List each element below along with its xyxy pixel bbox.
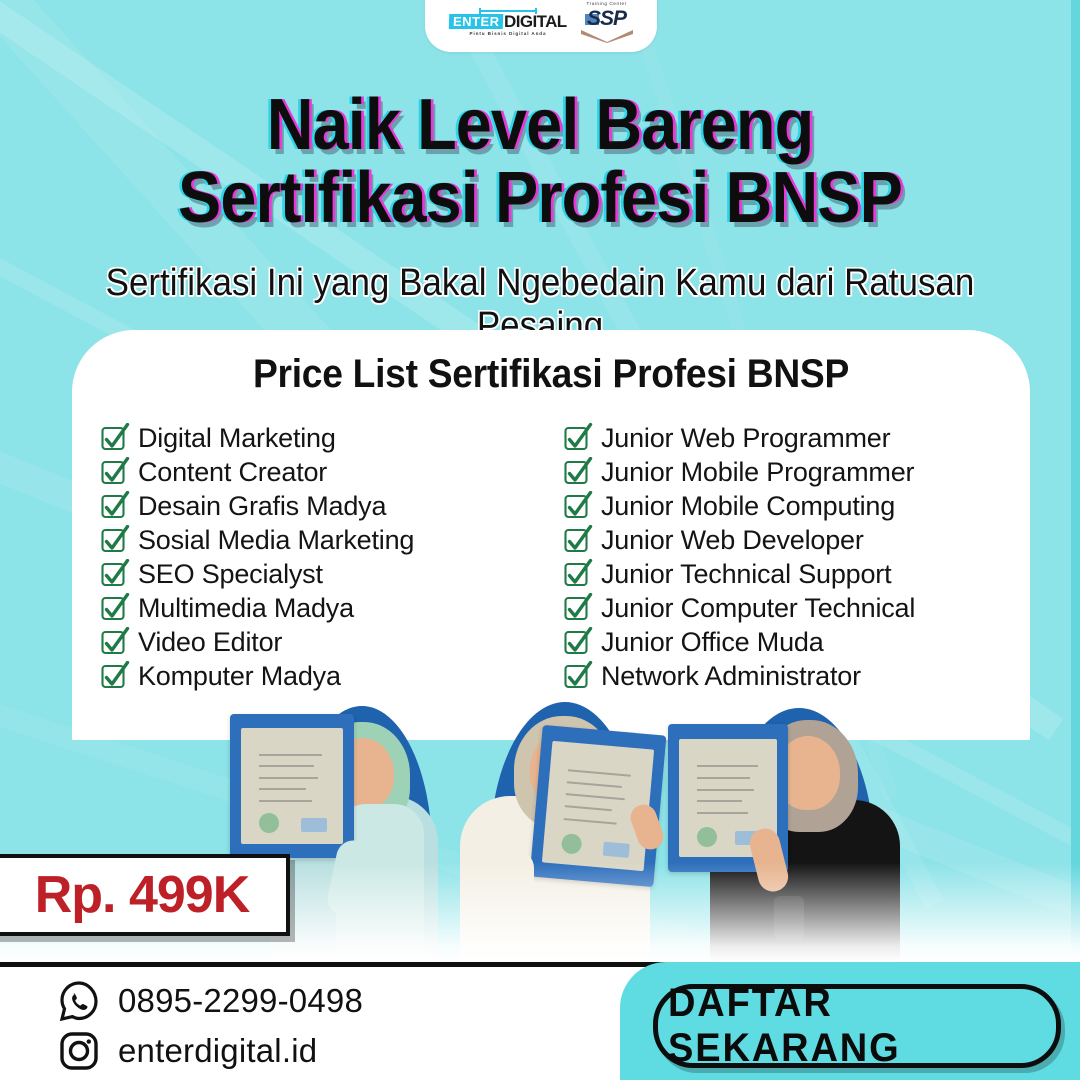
- list-item: Junior Web Developer: [563, 523, 1004, 557]
- check-box-icon: [563, 423, 593, 453]
- list-item: Network Administrator: [563, 659, 1004, 693]
- list-item-label: Multimedia Madya: [138, 593, 354, 624]
- price-badge: Rp. 499K: [0, 854, 290, 936]
- person-right: [654, 700, 904, 962]
- price-list-card: Price List Sertifikasi Profesi BNSP Digi…: [72, 330, 1030, 740]
- list-item-label: SEO Specialyst: [138, 559, 323, 590]
- list-item-label: Digital Marketing: [138, 423, 336, 454]
- check-box-icon: [563, 559, 593, 589]
- logo-bar: ENTER DIGITAL Pintu Bisnis Digital Anda …: [425, 0, 657, 52]
- list-item-label: Junior Computer Technical: [601, 593, 915, 624]
- list-item-label: Network Administrator: [601, 661, 861, 692]
- check-box-icon: [100, 559, 130, 589]
- check-box-icon: [100, 457, 130, 487]
- check-box-icon: [563, 627, 593, 657]
- list-item: Sosial Media Marketing: [100, 523, 541, 557]
- list-item: Junior Web Programmer: [563, 421, 1004, 455]
- ssp-chevron-icon: [581, 30, 633, 43]
- list-item: Komputer Madya: [100, 659, 541, 693]
- check-box-icon: [100, 457, 130, 487]
- check-box-icon: [100, 661, 130, 691]
- check-box-icon: [100, 491, 130, 521]
- whatsapp-number: 0895-2299-0498: [118, 982, 363, 1020]
- price-list-column-right: Junior Web ProgrammerJunior Mobile Progr…: [563, 421, 1004, 693]
- list-item: Junior Technical Support: [563, 557, 1004, 591]
- page-title: Naik Level Bareng Sertifikasi Profesi BN…: [54, 92, 1026, 232]
- check-box-icon: [563, 525, 593, 555]
- headline-line-2: Sertifikasi Profesi BNSP: [54, 165, 1026, 232]
- list-item-label: Junior Web Programmer: [601, 423, 890, 454]
- list-item-label: Junior Technical Support: [601, 559, 891, 590]
- check-box-icon: [563, 423, 593, 453]
- list-item: Video Editor: [100, 625, 541, 659]
- list-item: Junior Office Muda: [563, 625, 1004, 659]
- list-item-label: Junior Office Muda: [601, 627, 824, 658]
- logo-digital-text: DIGITAL: [504, 13, 567, 30]
- list-item-label: Junior Web Developer: [601, 525, 864, 556]
- instagram-row[interactable]: enterdigital.id: [58, 1030, 363, 1072]
- check-box-icon: [563, 661, 593, 691]
- check-box-icon: [100, 627, 130, 657]
- cta-block: DAFTAR SEKARANG: [620, 962, 1080, 1080]
- enter-digital-logo: ENTER DIGITAL Pintu Bisnis Digital Anda: [449, 10, 566, 37]
- whatsapp-row[interactable]: 0895-2299-0498: [58, 980, 363, 1022]
- list-item: Digital Marketing: [100, 421, 541, 455]
- list-item: Multimedia Madya: [100, 591, 541, 625]
- contact-block: 0895-2299-0498 enterdigital.id: [58, 980, 363, 1080]
- list-item: Junior Mobile Computing: [563, 489, 1004, 523]
- check-box-icon: [100, 559, 130, 589]
- list-item: SEO Specialyst: [100, 557, 541, 591]
- certificate-left: [230, 714, 354, 858]
- check-box-icon: [100, 593, 130, 623]
- register-button[interactable]: DAFTAR SEKARANG: [653, 984, 1061, 1068]
- list-item: Content Creator: [100, 455, 541, 489]
- check-box-icon: [563, 627, 593, 657]
- logo-enter-text: ENTER: [449, 14, 503, 29]
- instagram-icon[interactable]: [58, 1030, 100, 1072]
- whatsapp-icon[interactable]: [58, 980, 100, 1022]
- check-box-icon: [563, 525, 593, 555]
- person-center: [438, 700, 688, 962]
- list-item: Desain Grafis Madya: [100, 489, 541, 523]
- check-box-icon: [563, 593, 593, 623]
- check-box-icon: [563, 593, 593, 623]
- check-box-icon: [563, 491, 593, 521]
- check-box-icon: [100, 661, 130, 691]
- check-box-icon: [563, 457, 593, 487]
- logo-tagline: Pintu Bisnis Digital Anda: [470, 32, 547, 37]
- check-box-icon: [100, 525, 130, 555]
- check-box-icon: [100, 423, 130, 453]
- check-box-icon: [563, 559, 593, 589]
- list-item: Junior Mobile Programmer: [563, 455, 1004, 489]
- price-badge-label: Rp. 499K: [35, 865, 250, 925]
- list-item-label: Junior Mobile Computing: [601, 491, 895, 522]
- list-item-label: Desain Grafis Madya: [138, 491, 386, 522]
- register-button-label: DAFTAR SEKARANG: [668, 981, 1046, 1071]
- logo-bracket-icon: [479, 10, 537, 12]
- poster-canvas: ENTER DIGITAL Pintu Bisnis Digital Anda …: [0, 0, 1080, 1080]
- check-box-icon: [563, 491, 593, 521]
- list-item-label: Junior Mobile Programmer: [601, 457, 914, 488]
- ssp-logo: Training Center SSP: [581, 3, 633, 44]
- price-list-title: Price List Sertifikasi Profesi BNSP: [106, 352, 997, 397]
- headline-line-1: Naik Level Bareng: [54, 92, 1026, 159]
- check-box-icon: [100, 491, 130, 521]
- check-box-icon: [100, 525, 130, 555]
- check-box-icon: [100, 627, 130, 657]
- price-list-columns: Digital MarketingContent CreatorDesain G…: [72, 421, 1030, 693]
- check-box-icon: [563, 661, 593, 691]
- price-list-column-left: Digital MarketingContent CreatorDesain G…: [100, 421, 541, 693]
- check-box-icon: [100, 423, 130, 453]
- list-item-label: Video Editor: [138, 627, 282, 658]
- instagram-handle: enterdigital.id: [118, 1032, 317, 1070]
- list-item: Junior Computer Technical: [563, 591, 1004, 625]
- list-item-label: Sosial Media Marketing: [138, 525, 414, 556]
- check-box-icon: [563, 457, 593, 487]
- check-box-icon: [100, 593, 130, 623]
- ssp-wordmark: SSP: [587, 8, 626, 29]
- list-item-label: Komputer Madya: [138, 661, 341, 692]
- list-item-label: Content Creator: [138, 457, 327, 488]
